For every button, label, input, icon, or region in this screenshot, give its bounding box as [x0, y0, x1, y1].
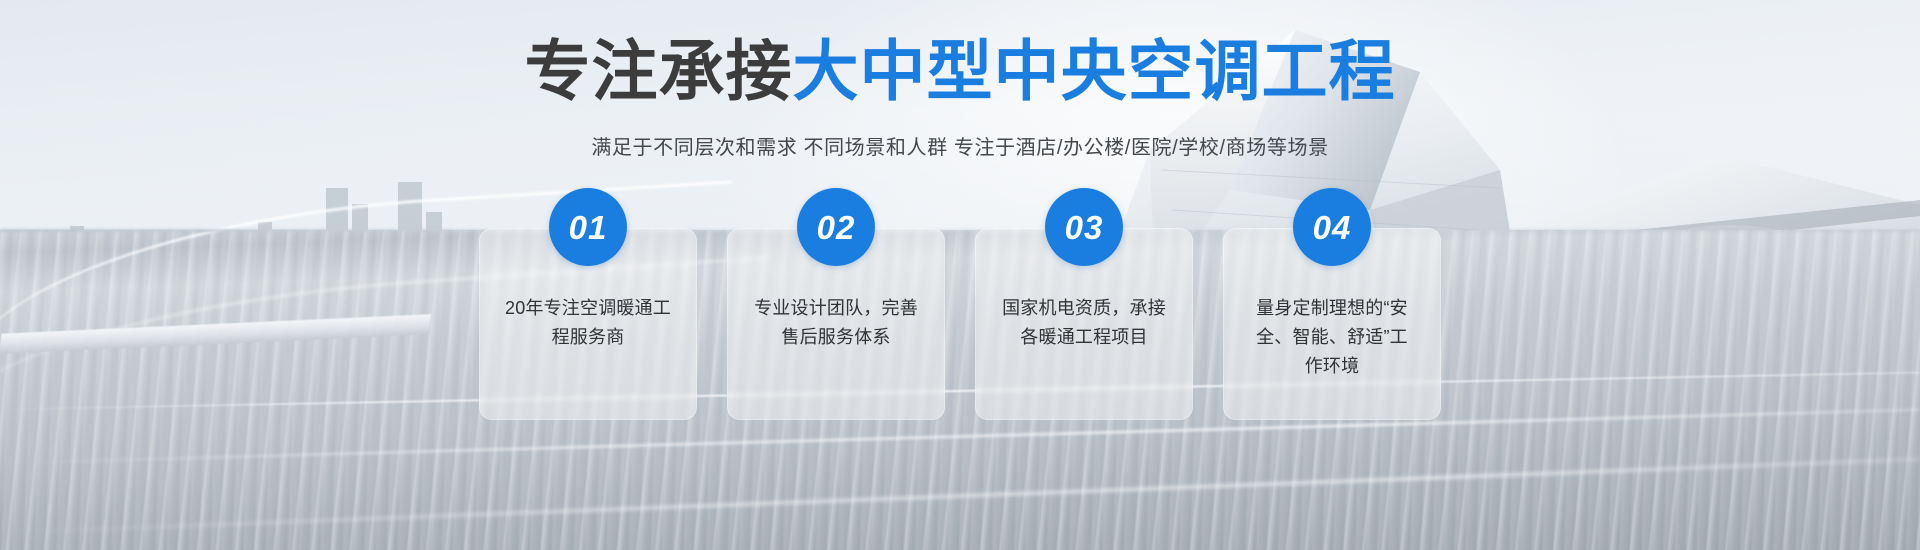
- headline: 专注承接大中型中央空调工程: [0, 38, 1920, 104]
- card-number: 02: [817, 211, 856, 244]
- feature-card[interactable]: 02 专业设计团队，完善售后服务体系: [727, 228, 945, 420]
- feature-card[interactable]: 01 20年专注空调暖通工程服务商: [479, 228, 697, 420]
- banner-content: 专注承接大中型中央空调工程 满足于不同层次和需求 不同场景和人群 专注于酒店/办…: [0, 0, 1920, 550]
- hero-banner: 专注承接大中型中央空调工程 满足于不同层次和需求 不同场景和人群 专注于酒店/办…: [0, 0, 1920, 550]
- headline-part-dark: 专注承接: [525, 34, 793, 108]
- headline-part-highlight: 大中型中央空调工程: [793, 34, 1396, 108]
- subtitle: 满足于不同层次和需求 不同场景和人群 专注于酒店/办公楼/医院/学校/商场等场景: [0, 131, 1920, 160]
- feature-card-list: 01 20年专注空调暖通工程服务商 02 专业设计团队，完善售后服务体系 03 …: [0, 228, 1920, 420]
- feature-card[interactable]: 04 量身定制理想的“安全、智能、舒适”工作环境: [1223, 228, 1441, 420]
- card-description: 国家机电资质，承接各暖通工程项目: [995, 294, 1173, 352]
- card-description: 20年专注空调暖通工程服务商: [499, 294, 677, 352]
- card-description: 量身定制理想的“安全、智能、舒适”工作环境: [1243, 294, 1421, 381]
- card-number-badge: 02: [797, 188, 875, 266]
- card-number: 03: [1065, 211, 1104, 244]
- feature-card[interactable]: 03 国家机电资质，承接各暖通工程项目: [975, 228, 1193, 420]
- card-number: 04: [1313, 211, 1352, 244]
- card-number: 01: [569, 211, 608, 244]
- card-description: 专业设计团队，完善售后服务体系: [747, 294, 925, 352]
- card-number-badge: 03: [1045, 188, 1123, 266]
- card-number-badge: 04: [1293, 188, 1371, 266]
- card-number-badge: 01: [549, 188, 627, 266]
